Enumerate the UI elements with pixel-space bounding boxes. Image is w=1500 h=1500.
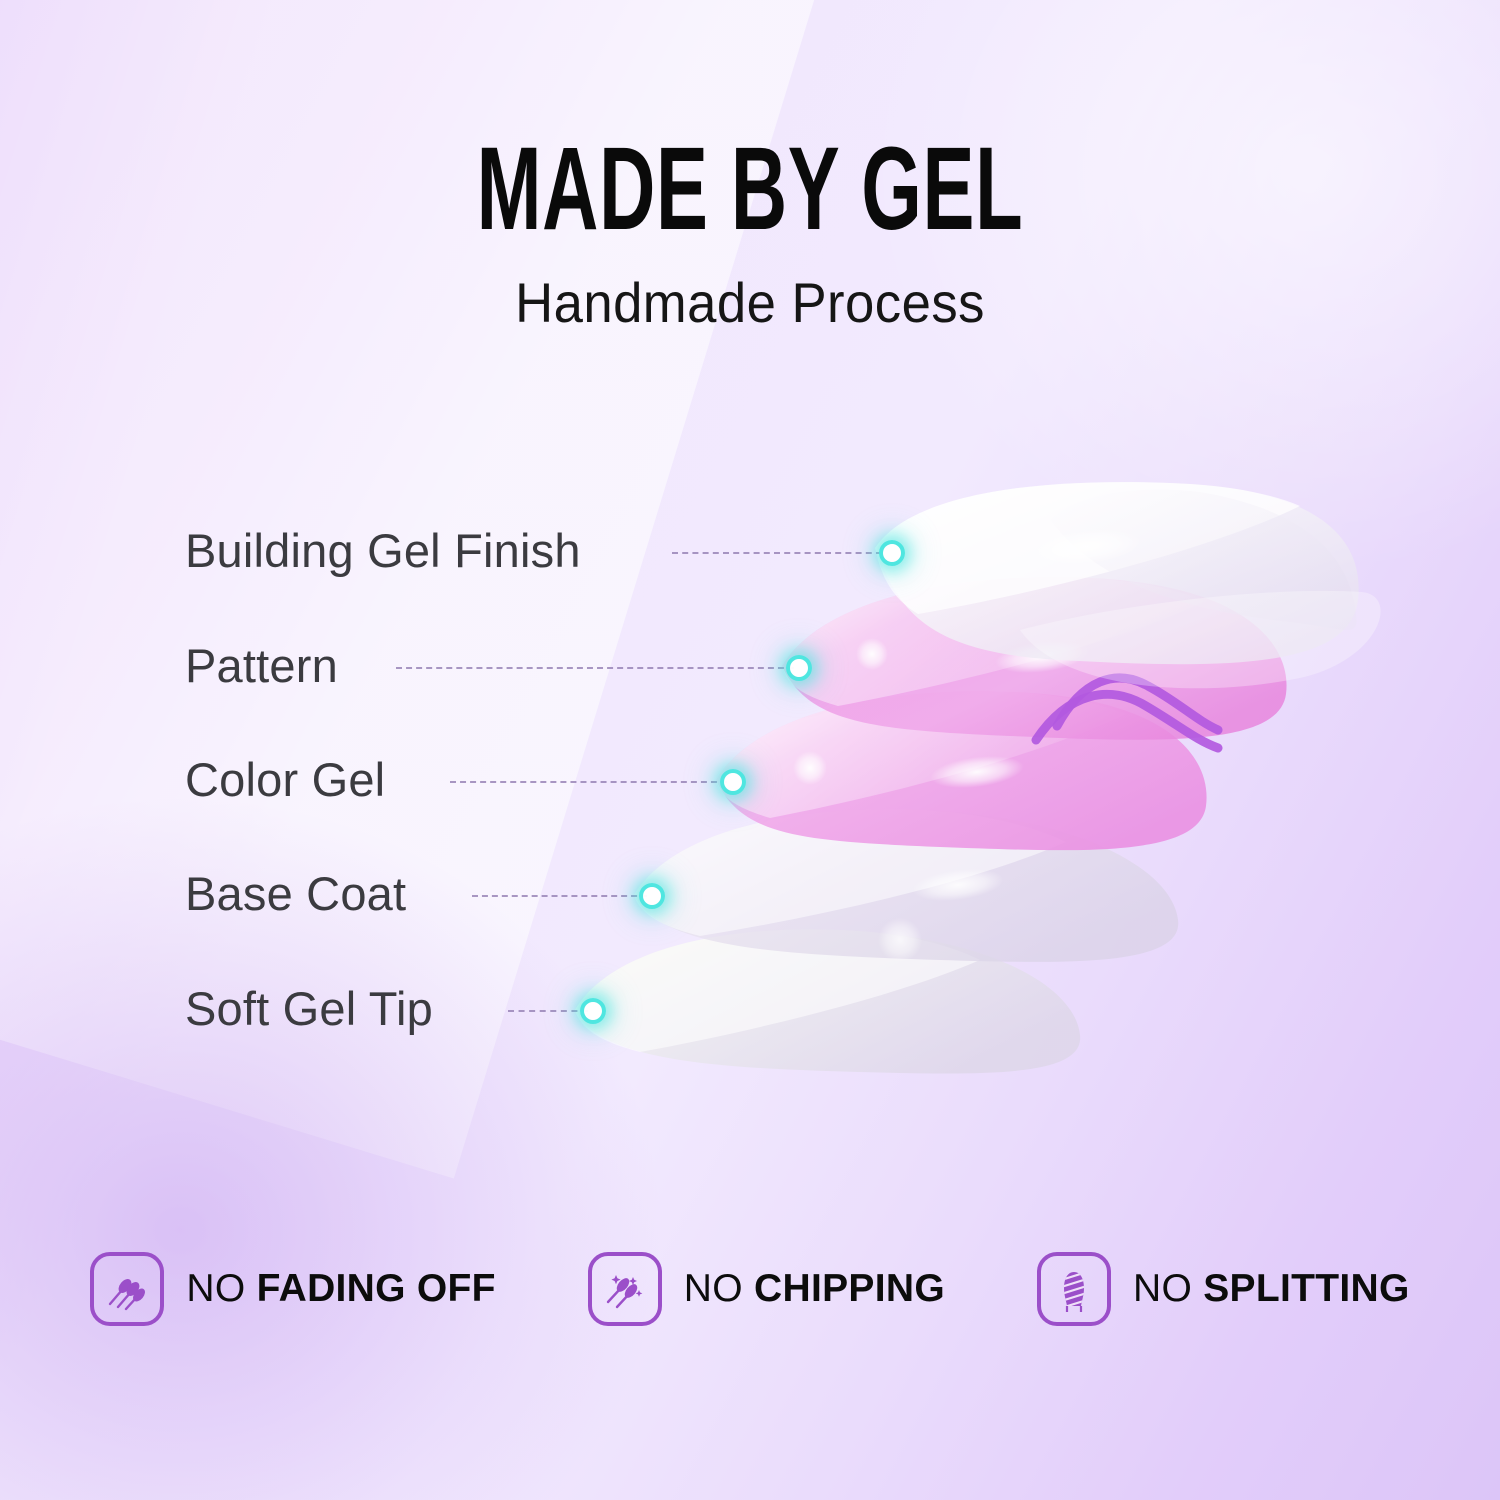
feature-label-no-fading-off: NO FADING OFF: [186, 1267, 495, 1311]
feature-no-fading-off[interactable]: NO FADING OFF: [90, 1252, 495, 1326]
layer-label-base-coat: Base Coat: [185, 866, 406, 921]
callout-dot-pattern[interactable]: [786, 655, 812, 681]
nail-sparkle-icon: [588, 1252, 662, 1326]
layer-label-color-gel: Color Gel: [185, 752, 385, 807]
callout-line-soft-gel-tip: [508, 1010, 588, 1012]
callout-line-pattern: [396, 667, 794, 669]
callout-line-color-gel: [450, 781, 727, 783]
striped-nail-icon: [1037, 1252, 1111, 1326]
nail-brush-strokes-icon: [90, 1252, 164, 1326]
callout-line-building-gel-finish: [672, 552, 882, 554]
callout-line-base-coat: [472, 895, 647, 897]
callout-dot-color-gel[interactable]: [720, 769, 746, 795]
layer-label-building-gel-finish: Building Gel Finish: [185, 523, 581, 578]
feature-label-no-splitting: NO SPLITTING: [1133, 1267, 1410, 1311]
feature-badge-row: NO FADING OFF: [0, 1252, 1500, 1326]
layer-label-soft-gel-tip: Soft Gel Tip: [185, 981, 433, 1036]
feature-label-no-chipping: NO CHIPPING: [684, 1267, 945, 1311]
callout-dot-base-coat[interactable]: [639, 883, 665, 909]
callout-dot-soft-gel-tip[interactable]: [580, 998, 606, 1024]
callout-dot-building-gel-finish[interactable]: [879, 540, 905, 566]
poster-canvas: MADE BY GEL Handmade Process: [0, 0, 1500, 1500]
feature-no-splitting[interactable]: NO SPLITTING: [1037, 1252, 1410, 1326]
layer-label-pattern: Pattern: [185, 638, 338, 693]
feature-no-chipping[interactable]: NO CHIPPING: [588, 1252, 945, 1326]
